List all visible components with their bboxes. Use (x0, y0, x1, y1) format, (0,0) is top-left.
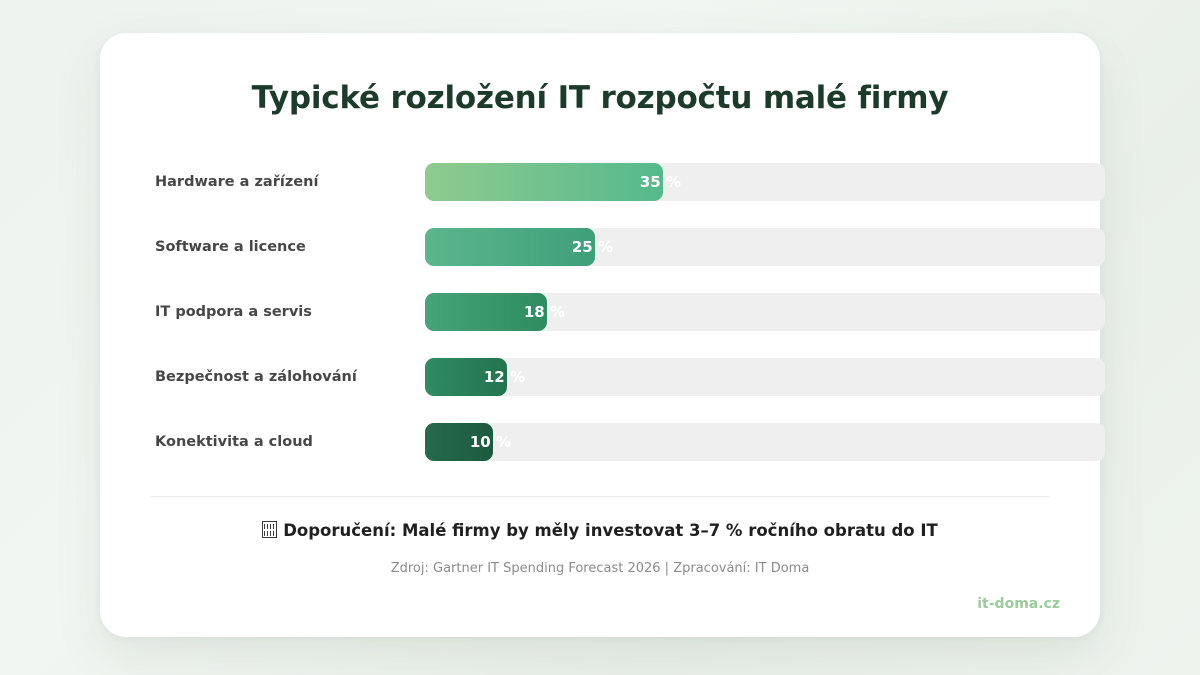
bar-row-label: IT podpora a servis (155, 293, 370, 331)
bar-track: 12 % (425, 358, 1105, 396)
bar-row: IT podpora a servis18 % (155, 293, 1045, 358)
bar-value-label: 35 % (640, 163, 681, 201)
bar-row-label: Software a licence (155, 228, 370, 266)
bar-rows: Hardware a zařízení35 %Software a licenc… (155, 163, 1045, 488)
bar-row: Konektivita a cloud10 % (155, 423, 1045, 488)
chart-title: Typické rozložení IT rozpočtu malé firmy (100, 80, 1100, 116)
watermark: it-doma.cz (977, 596, 1060, 612)
bar-value-label: 25 % (572, 228, 613, 266)
bar-row: Bezpečnost a zálohování12 % (155, 358, 1045, 423)
bar-value-label: 12 % (484, 358, 525, 396)
bar-track: 18 % (425, 293, 1105, 331)
bar-row-label: Hardware a zařízení (155, 163, 370, 201)
bar-row-label: Bezpečnost a zálohování (155, 358, 370, 396)
bar-row: Hardware a zařízení35 % (155, 163, 1045, 228)
recommendation-text: Doporučení: Malé firmy by měly investova… (283, 521, 938, 540)
chart-infographic: Typické rozložení IT rozpočtu malé firmy… (0, 0, 1200, 675)
chart-card: Typické rozložení IT rozpočtu malé firmy… (100, 33, 1100, 637)
bar-track: 25 % (425, 228, 1105, 266)
bar-track: 10 % (425, 423, 1105, 461)
bar-value-label: 10 % (470, 423, 511, 461)
source-line: Zdroj: Gartner IT Spending Forecast 2026… (100, 561, 1100, 576)
bar-track: 35 % (425, 163, 1105, 201)
bar-row: Software a licence25 % (155, 228, 1045, 293)
footer-divider (150, 496, 1050, 497)
bar-fill (425, 163, 663, 201)
lightbulb-tofu-icon (262, 521, 277, 538)
bar-row-label: Konektivita a cloud (155, 423, 370, 461)
recommendation-line: Doporučení: Malé firmy by měly investova… (100, 521, 1100, 540)
bar-value-label: 18 % (524, 293, 565, 331)
bar-fill (425, 228, 595, 266)
